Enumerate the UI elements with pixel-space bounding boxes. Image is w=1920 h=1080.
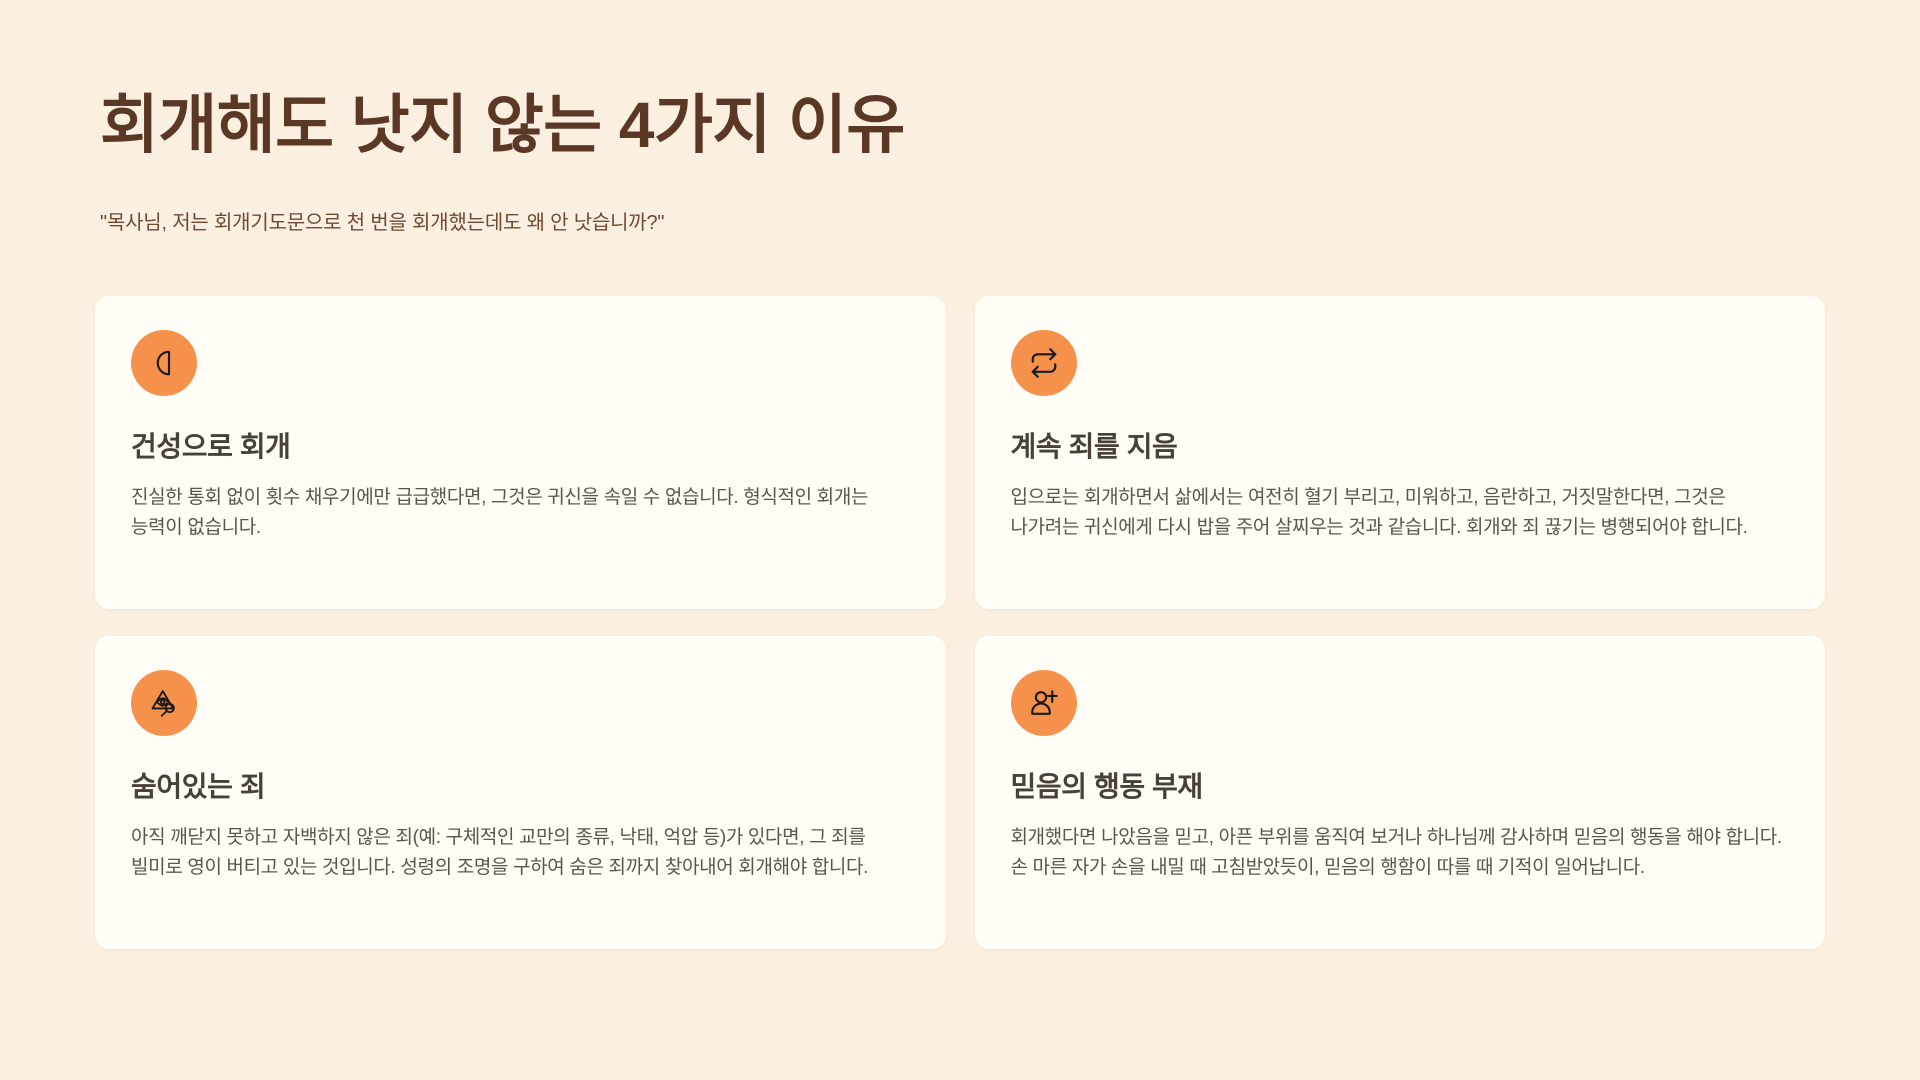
half-circle-contrast-icon (131, 330, 197, 396)
eye-triangle-magnifier-icon (131, 670, 197, 736)
reason-card-title: 숨어있는 죄 (131, 769, 910, 804)
reason-card-title: 믿음의 행동 부재 (1011, 769, 1790, 804)
reason-card-2[interactable]: 계속 죄를 지음 입으로는 회개하면서 삶에서는 여전히 혈기 부리고, 미워하… (975, 296, 1826, 609)
reason-card-3[interactable]: 숨어있는 죄 아직 깨닫지 못하고 자백하지 않은 죄(예: 구체적인 교만의 … (95, 636, 946, 949)
reason-card-4[interactable]: 믿음의 행동 부재 회개했다면 나았음을 믿고, 아픈 부위를 움직여 보거나 … (975, 636, 1826, 949)
page-title: 회개해도 낫지 않는 4가지 이유 (100, 88, 1920, 164)
reason-card-body: 진실한 통회 없이 횟수 채우기에만 급급했다면, 그것은 귀신을 속일 수 없… (131, 483, 910, 545)
reason-card-grid: 건성으로 회개 진실한 통회 없이 횟수 채우기에만 급급했다면, 그것은 귀신… (0, 296, 1920, 949)
reason-card-body: 회개했다면 나았음을 믿고, 아픈 부위를 움직여 보거나 하나님께 감사하며 … (1011, 823, 1790, 885)
reason-card-body: 아직 깨닫지 못하고 자백하지 않은 죄(예: 구체적인 교만의 종류, 낙태,… (131, 823, 910, 885)
page-header: 회개해도 낫지 않는 4가지 이유 "목사님, 저는 회개기도문으로 천 번을 … (0, 0, 1920, 238)
page-root: 회개해도 낫지 않는 4가지 이유 "목사님, 저는 회개기도문으로 천 번을 … (0, 0, 1920, 1080)
reason-card-1[interactable]: 건성으로 회개 진실한 통회 없이 횟수 채우기에만 급급했다면, 그것은 귀신… (95, 296, 946, 609)
repeat-loop-icon (1011, 330, 1077, 396)
reason-card-body: 입으로는 회개하면서 삶에서는 여전히 혈기 부리고, 미워하고, 음란하고, … (1011, 483, 1790, 545)
reason-card-title: 건성으로 회개 (131, 429, 910, 464)
person-plus-icon (1011, 670, 1077, 736)
page-subtitle: "목사님, 저는 회개기도문으로 천 번을 회개했는데도 왜 안 낫습니까?" (100, 208, 1920, 238)
reason-card-title: 계속 죄를 지음 (1011, 429, 1790, 464)
